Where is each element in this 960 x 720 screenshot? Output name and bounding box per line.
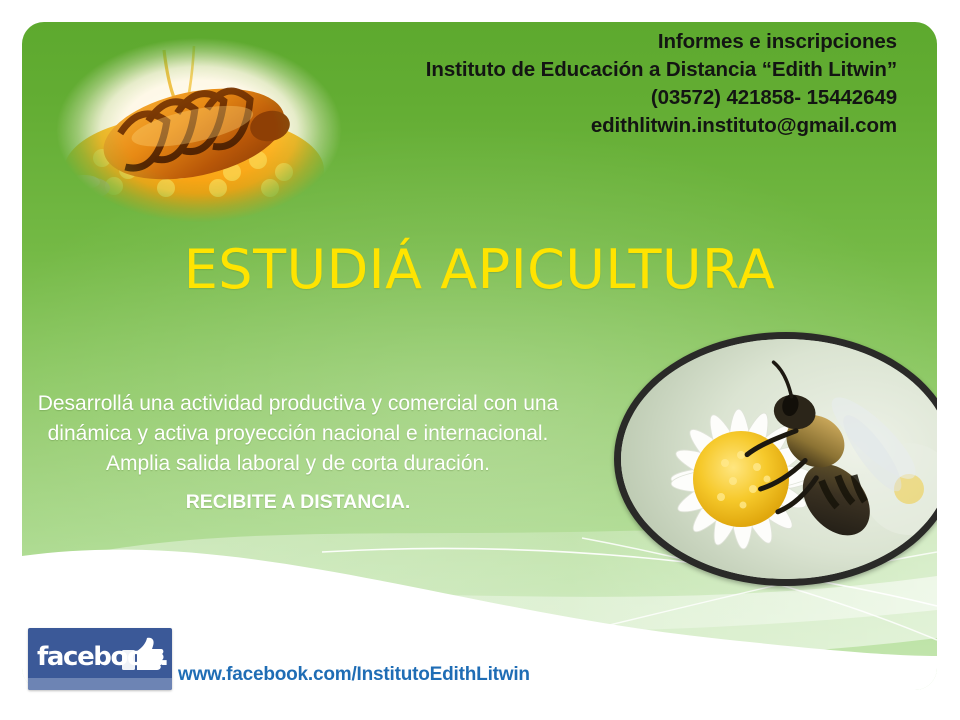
body-copy: Desarrollá una actividad productiva y co… [28, 389, 568, 517]
contact-line-informes: Informes e inscripciones [297, 28, 897, 56]
bee-on-daisy-image [614, 332, 937, 586]
contact-line-email: edithlitwin.instituto@gmail.com [297, 112, 897, 140]
facebook-badge[interactable]: facebook. [28, 628, 172, 690]
contact-line-institute: Instituto de Educación a Distancia “Edit… [297, 56, 897, 84]
thumbs-up-icon [122, 636, 164, 672]
contact-block: Informes e inscripciones Instituto de Ed… [297, 28, 897, 140]
contact-line-phone: (03572) 421858- 15442649 [297, 84, 897, 112]
body-paragraph: Desarrollá una actividad productiva y co… [38, 392, 559, 475]
body-cta: RECIBITE A DISTANCIA. [28, 489, 568, 517]
facebook-url[interactable]: www.facebook.com/InstitutoEdithLitwin [178, 664, 530, 686]
facebook-badge-strip [28, 678, 172, 690]
promotional-slide: Informes e inscripciones Instituto de Ed… [0, 0, 960, 720]
green-background-panel: Informes e inscripciones Instituto de Ed… [22, 22, 937, 690]
page-title: ESTUDIÁ APICULTURA [22, 238, 937, 301]
